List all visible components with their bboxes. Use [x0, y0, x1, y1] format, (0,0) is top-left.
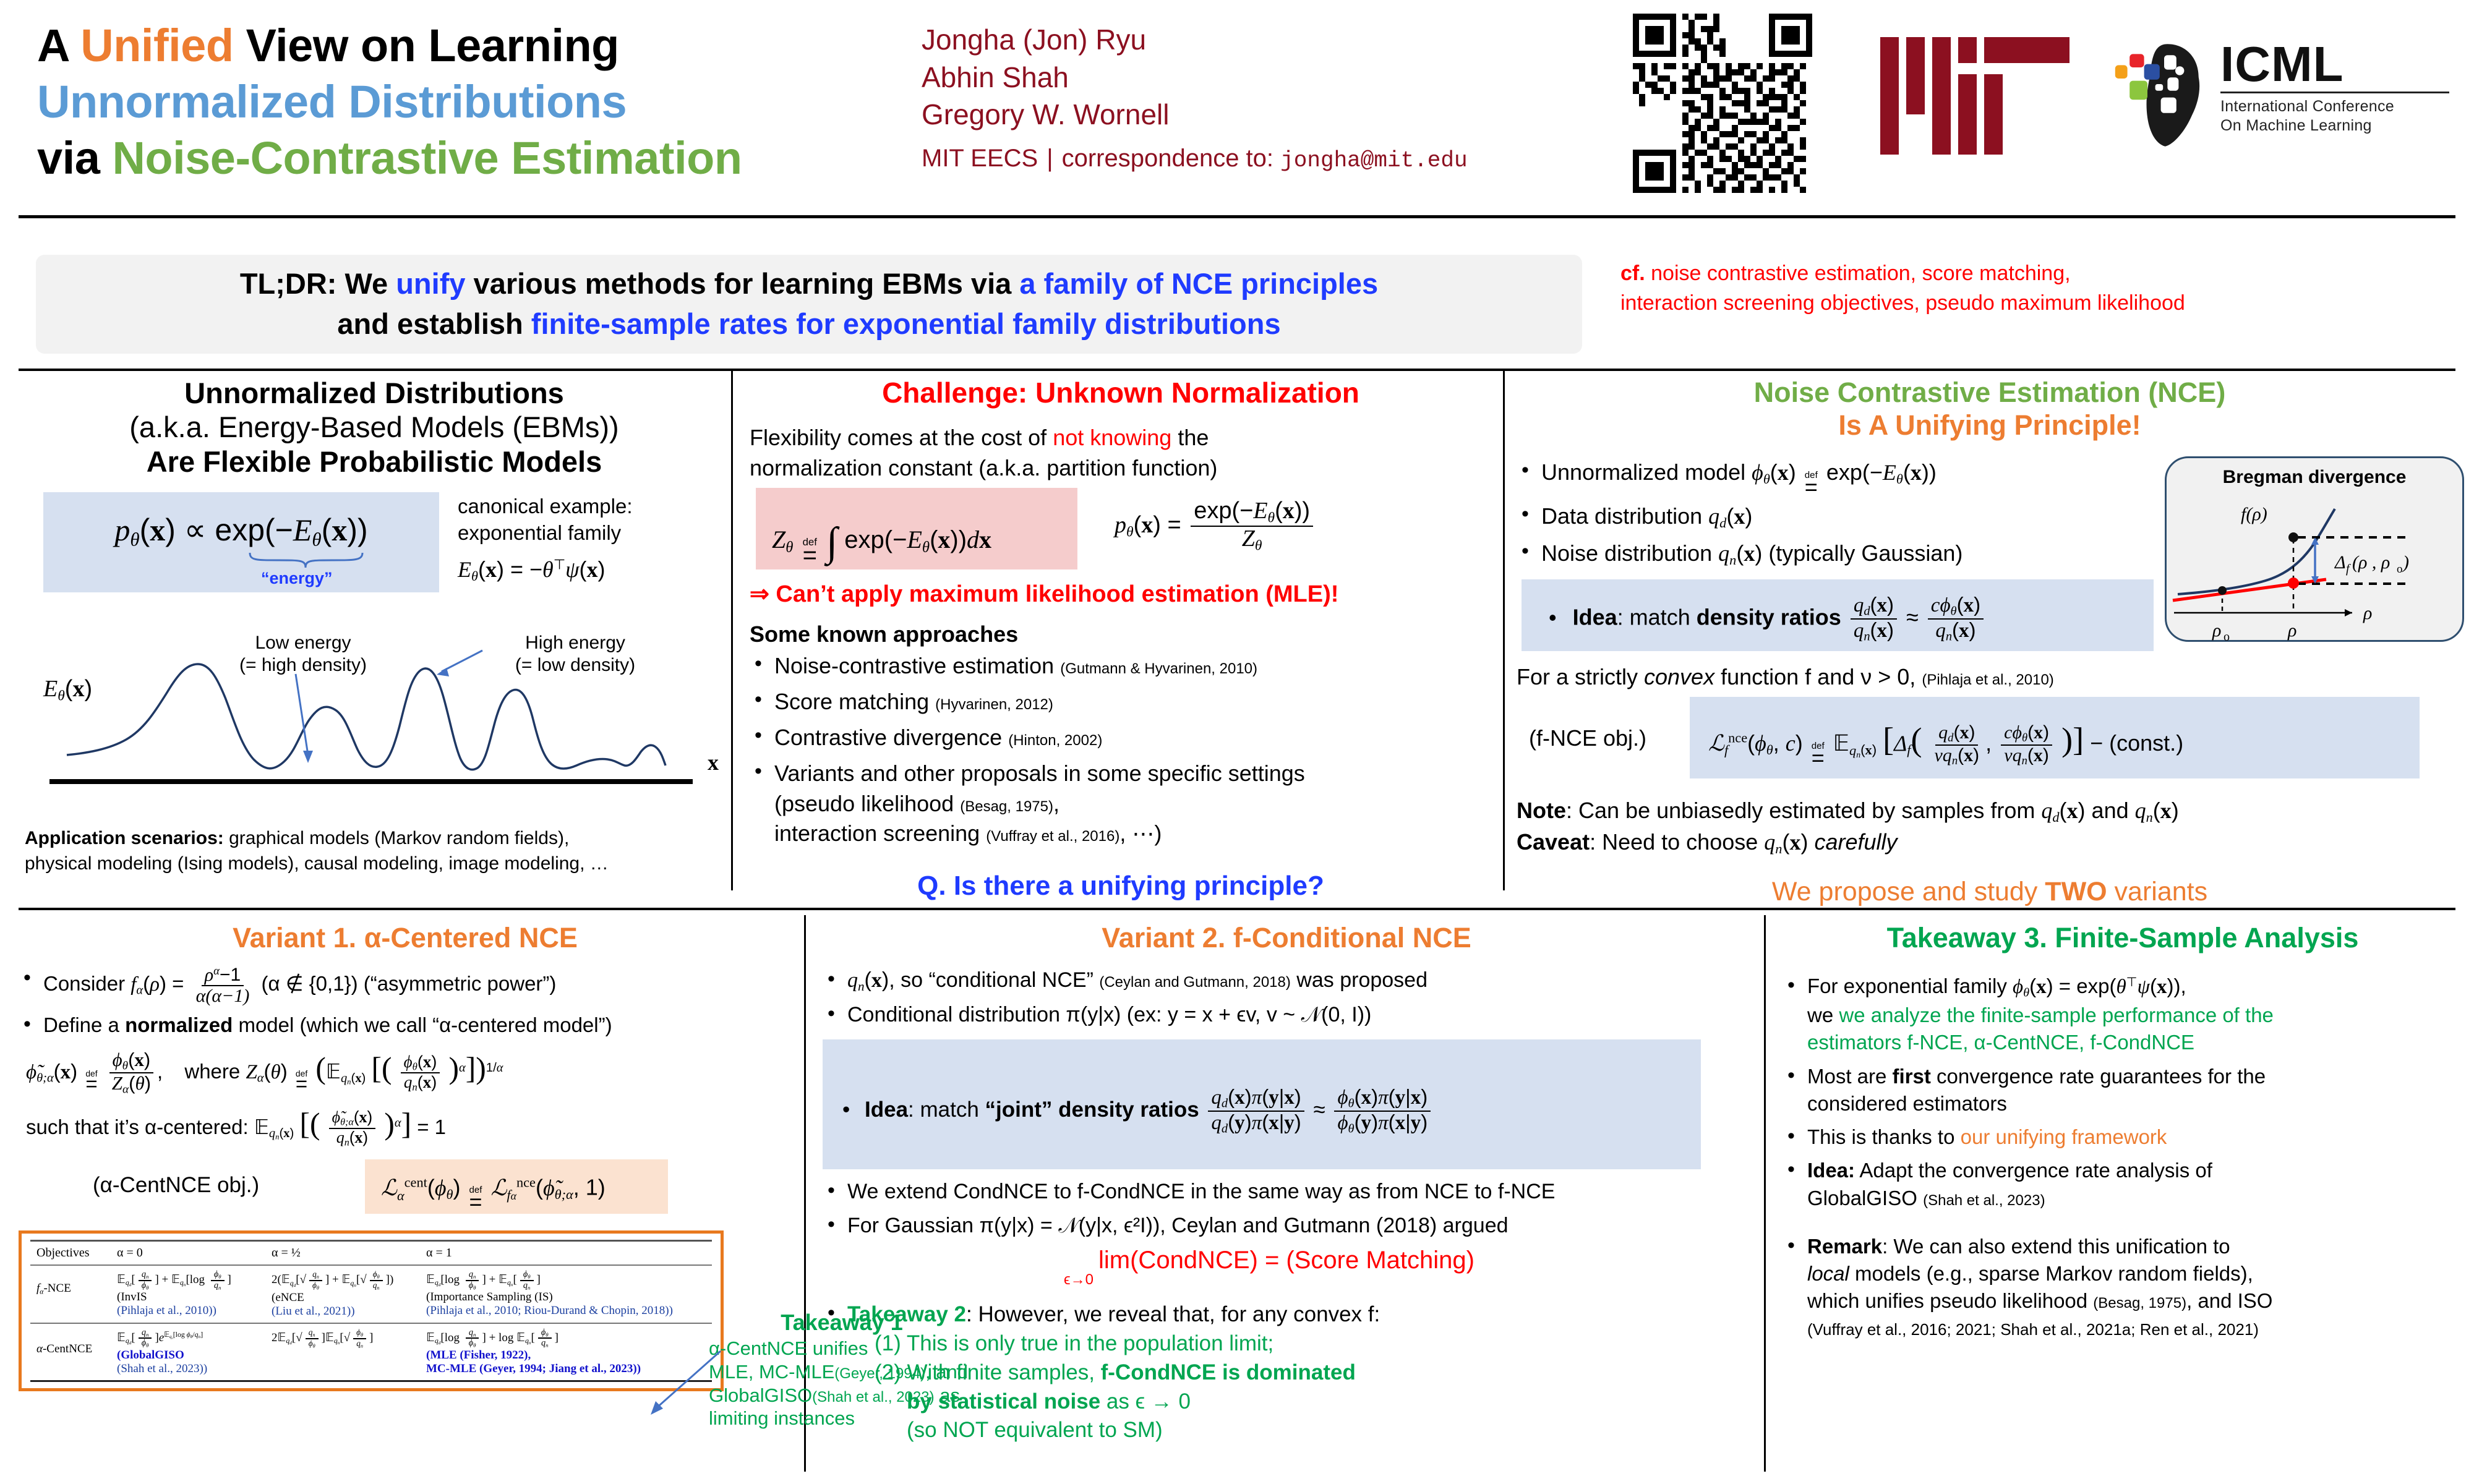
v1-centered-eq: = 1: [417, 1115, 446, 1138]
col3-heading-l2: Is A Unifying Principle!: [1838, 409, 2141, 441]
nce-bullet-noise: Noise distribution qn(x) (typically Gaus…: [1517, 539, 2154, 569]
approach-ref-2: (Hinton, 2002): [1008, 732, 1102, 749]
approach-text-2: Contrastive divergence: [774, 725, 1002, 750]
t3-first-c: convergence rate guarantees for the: [1931, 1065, 2266, 1088]
takeaway1-arrow-icon: [643, 1348, 724, 1428]
note-tail: and: [2092, 798, 2129, 823]
col3-heading-l1: Noise Contrastive Estimation (NCE): [1754, 377, 2226, 408]
row-label-centnce: α-CentNCE: [30, 1323, 111, 1381]
v2-heading-b: f-Conditional NCE: [1233, 922, 1471, 953]
th-alpha-0: α = 0: [111, 1241, 265, 1266]
v1-such-that: such that it’s α-centered:: [26, 1115, 249, 1138]
v1-where-label: where: [184, 1060, 240, 1083]
icml-brain-icon: [2103, 40, 2214, 151]
title-seg-unified: Unified: [80, 20, 233, 71]
svg-text:f(ρ): f(ρ): [2241, 504, 2267, 524]
v1-objective-box: ℒαcent(ϕθ) def= ℒfαnce(ϕ̃θ;α, 1): [365, 1159, 668, 1214]
variant1-heading: Variant 1. α-Centered NCE: [19, 921, 792, 954]
t2-point-2a: (2) With finite samples,: [875, 1360, 1101, 1384]
results-table-wrapper: Objectives α = 0 α = ½ α = 1 fα-NCE 𝔼qd: [19, 1230, 724, 1391]
header-divider: [19, 215, 2455, 218]
mid-divider: [19, 908, 2455, 910]
partition-function-box: Zθ def= ∫ exp(−Eθ(x))dx: [756, 488, 1077, 569]
col1-equation-row: pθ(x) ∝ exp(−Eθ(x)) “energy” canonical e…: [25, 492, 724, 616]
two-variants-line: We propose and study TWO variants: [1517, 877, 2463, 907]
approach-ref-0: (Gutmann & Hyvarinen, 2010): [1060, 660, 1257, 677]
results-table-head: Objectives α = 0 α = ½ α = 1: [30, 1241, 712, 1266]
canonical-example: canonical example: exponential family Eθ…: [458, 493, 717, 585]
t3-green-l1: we analyze the finite-sample performance…: [1839, 1004, 2274, 1026]
cell-ref: (Liu et al., 2021)): [272, 1305, 414, 1318]
caveat-rest: : Need to choose: [1590, 829, 1758, 855]
note-label: Note: [1517, 798, 1566, 823]
v1-heading-b: α-Centered NCE: [364, 922, 578, 953]
variants-sub-2: interaction screening: [774, 821, 980, 846]
svg-text:(ρ , ρ: (ρ , ρ: [2352, 552, 2390, 573]
t3-bullet-idea: Idea: Adapt the convergence rate analysi…: [1783, 1157, 2463, 1211]
t3-bullet-first: Most are first convergence rate guarante…: [1783, 1063, 2463, 1117]
density-ratio-eq: • Idea: match density ratios qd(x) qn(x)…: [1531, 584, 2144, 644]
icml-logo: ICML International Conference On Machine…: [2103, 31, 2449, 161]
nce-data-text: Data distribution: [1541, 503, 1702, 529]
propose-tail: variants: [2107, 877, 2208, 906]
t3-expfam-pre: For exponential family: [1807, 974, 2007, 997]
v2-bullet-extend: We extend CondNCE to f-CondNCE in the sa…: [823, 1178, 1750, 1206]
nce-noise-prefix: Noise distribution: [1541, 540, 1712, 566]
propose-pre: We propose and study: [1772, 877, 2045, 906]
t3-thanks-a: This is thanks to: [1807, 1125, 1961, 1148]
table-row: α-CentNCE 𝔼qd[qnϕθ]e𝔼qn[log ϕθ/qn] (Glob…: [30, 1323, 712, 1381]
v2-heading-a: Variant 2.: [1102, 922, 1233, 953]
col1-heading: Unnormalized Distributions (a.k.a. Energ…: [25, 376, 724, 479]
t2-point-1: (1) This is only true in the population …: [847, 1329, 1273, 1358]
fnce-objective-row: (f-NCE obj.) ℒfnce(ϕθ, c) def= 𝔼qn(x) [Δ…: [1517, 697, 2463, 790]
variant1-bullets: Consider fα(ρ) = ρα−1 α(α−1) (α ∉ {0,1})…: [19, 965, 792, 1039]
tldr-seg-5: and establish: [337, 307, 531, 340]
cell-name: (GlobalGISO: [117, 1349, 259, 1362]
mle-warning: ⇒ Can’t apply maximum likelihood estimat…: [750, 580, 1492, 608]
cf-note: cf. noise contrastive estimation, score …: [1620, 258, 2462, 318]
cell-formula: 2𝔼qd[√qnϕθ]𝔼qn[√ϕθqn]: [272, 1328, 414, 1349]
v2-limit-eq: lim(CondNCE) = (Score Matching): [1098, 1247, 1475, 1274]
col2-p1c: the: [1171, 425, 1209, 450]
t3-idea-b: GlobalGISO: [1807, 1187, 1917, 1209]
takeaway-2-panel: Takeaway 2: However, we reveal that, for…: [823, 1300, 1750, 1445]
variants-line: Variants and other proposals in some spe…: [774, 761, 1305, 786]
t3-remark-b: models (e.g., sparse Markov random field…: [1849, 1262, 2253, 1285]
partition-function-eq: Zθ def= ∫ exp(−Eθ(x))dx: [767, 494, 1066, 566]
title-seg-nce: Noise-Contrastive Estimation: [112, 132, 742, 184]
author-block: Jongha (Jon) Ryu Abhin Shah Gregory W. W…: [922, 21, 1468, 173]
svg-text:ρ: ρ: [2287, 620, 2296, 641]
title-seg-c: View on Learning: [234, 20, 619, 71]
mit-logo: [1880, 37, 2084, 155]
v2-bullet-conditional: Conditional distribution π(y|x) (ex: y =…: [823, 1001, 1750, 1030]
application-scenarios: Application scenarios: graphical models …: [25, 826, 724, 877]
column-unnormalized-distributions: Unnormalized Distributions (a.k.a. Energ…: [25, 376, 724, 877]
t3-green-l2: estimators f-NCE, α-CentNCE, f-CondNCE: [1807, 1031, 2194, 1054]
t2-point-4: (so NOT equivalent to SM): [847, 1416, 1163, 1445]
caveat-label: Caveat: [1517, 829, 1590, 855]
cell-ref: (Pihlaja et al., 2010)): [117, 1304, 259, 1318]
tldr-seg-1: TL;DR: We: [240, 267, 396, 300]
nce-definitions-list: Unnormalized model ϕθ(x) def= exp(−Eθ(x)…: [1517, 458, 2154, 569]
apps-line-2: physical modeling (Ising models), causal…: [25, 853, 609, 874]
cell-name: (Importance Sampling (IS): [426, 1290, 706, 1304]
poster-header: A Unified View on Learning Unnormalized …: [0, 0, 2474, 218]
cf-line-1: noise contrastive estimation, score matc…: [1645, 262, 2071, 285]
col1-heading-l1: Unnormalized Distributions: [184, 377, 564, 409]
note-line: Note: Can be unbiasedly estimated by sam…: [1517, 796, 2463, 827]
author-3: Gregory W. Wornell: [922, 96, 1468, 134]
v2-b1-pre: , so “conditional NCE”: [889, 968, 1094, 992]
row-label-fnce: fα-NCE: [30, 1265, 111, 1323]
th-alpha-1: α = 1: [420, 1241, 712, 1266]
title-seg-via: via: [37, 132, 112, 184]
results-table-body: fα-NCE 𝔼qd[qnϕθ] + 𝔼qn[log ϕθqn] (InvIS …: [30, 1265, 712, 1381]
th-objectives: Objectives: [30, 1241, 111, 1266]
fnce-equation: ℒfnce(ϕθ, c) def= 𝔼qn(x) [Δf( qd(x) νqn(…: [1700, 702, 2410, 767]
takeaway2-item: Takeaway 2: However, we reveal that, for…: [823, 1300, 1750, 1445]
cell-ref: (Shah et al., 2023)): [117, 1362, 259, 1376]
results-table: Objectives α = 0 α = ½ α = 1 fα-NCE 𝔼qd: [30, 1240, 712, 1382]
nce-bullet-data: Data distribution qd(x): [1517, 501, 2154, 532]
t2-point-3: by statistical noise as ϵ → 0: [847, 1388, 1191, 1417]
v1-normalized-model-eq: ϕ̃θ;α(x) def= ϕθ(x) Zα(θ) , where Zα(θ) …: [19, 1050, 792, 1096]
column-challenge: Challenge: Unknown Normalization Flexibi…: [750, 376, 1492, 902]
svg-text:f: f: [2346, 562, 2351, 576]
apps-line-1: graphical models (Markov random fields),: [224, 828, 570, 848]
ebm-equation: pθ(x) ∝ exp(−Eθ(x)): [53, 497, 429, 551]
col1-heading-l2: (a.k.a. Energy-Based Models (EBMs)): [129, 411, 618, 443]
cf-label: cf.: [1620, 262, 1645, 285]
density-ratio-box: • Idea: match density ratios qd(x) qn(x)…: [1522, 579, 2154, 651]
column-divider-1: [731, 371, 733, 890]
approaches-title: Some known approaches: [750, 621, 1492, 647]
fnce-const: − (const.): [2090, 730, 2183, 756]
tldr-seg-family: a family of NCE principles: [1019, 267, 1378, 300]
convex-pre: For a strictly: [1517, 664, 1644, 689]
note-rest: : Can be unbiasedly estimated by samples…: [1566, 798, 2035, 823]
column-divider-4: [1764, 915, 1766, 1472]
convex-italic: convex: [1644, 664, 1714, 689]
title-line-3: via Noise-Contrastive Estimation: [37, 130, 891, 186]
approach-ref-1: (Hyvarinen, 2012): [935, 696, 1053, 713]
th-alpha-half: α = ½: [265, 1241, 420, 1266]
nce-bullet-model: Unnormalized model ϕθ(x) def= exp(−Eθ(x)…: [1517, 458, 2154, 495]
cell-fnce-ahalf: 2(𝔼qd[√qnϕθ] + 𝔼qn[√ϕθqn]) (eNCE (Liu et…: [265, 1265, 420, 1323]
poster-root: A Unified View on Learning Unnormalized …: [0, 0, 2474, 1484]
energy-curve: [49, 628, 711, 814]
v1-consider-pre: Consider: [43, 972, 125, 995]
v1-heading-a: Variant 1.: [233, 922, 364, 953]
takeaway3-bullets: For exponential family ϕθ(x) = exp(θ⊤ψ(x…: [1783, 973, 2463, 1342]
bregman-title: Bregman divergence: [2167, 467, 2462, 488]
variants-tail: , ⋯): [1119, 821, 1162, 846]
approach-item-1: Score matching (Hyvarinen, 2012): [750, 687, 1492, 717]
convex-ref: (Pihlaja et al., 2010): [1922, 672, 2053, 688]
v1-objective-eq: ℒαcent(ϕθ) def= ℒfαnce(ϕ̃θ;α, 1): [376, 1166, 657, 1210]
unifying-question: Q. Is there a unifying principle?: [750, 871, 1492, 902]
v1-bullet-consider: Consider fα(ρ) = ρα−1 α(α−1) (α ∉ {0,1})…: [19, 965, 792, 1005]
t3-bullet-expfam: For exponential family ϕθ(x) = exp(θ⊤ψ(x…: [1783, 973, 2463, 1057]
icml-title: ICML: [2220, 41, 2449, 88]
v2-limit-sub: ϵ→0: [1064, 1271, 1094, 1289]
expfam-equation: Eθ(x) = −θ⊤ψ(x): [458, 555, 717, 585]
col2-heading: Challenge: Unknown Normalization: [750, 376, 1492, 409]
tldr-seg-3: various methods for learning EBMs via: [466, 267, 1020, 300]
nce-model-prefix: Unnormalized model: [1541, 459, 1745, 485]
title-line-1: A Unified View on Learning: [37, 17, 891, 74]
col2-paragraph: Flexibility comes at the cost of not kno…: [750, 423, 1492, 482]
variant2-bullets-2: We extend CondNCE to f-CondNCE in the sa…: [823, 1178, 1750, 1240]
v2-b1-post: was proposed: [1291, 968, 1427, 992]
v2-joint-ratio-eq: • Idea: match “joint” density ratios qd(…: [833, 1044, 1691, 1136]
variant2-bullets: qn(x), so “conditional NCE” (Ceylan and …: [823, 966, 1750, 1030]
fnce-equation-box: ℒfnce(ϕθ, c) def= 𝔼qn(x) [Δf( qd(x) νqn(…: [1690, 697, 2420, 778]
t3-first-d: considered estimators: [1807, 1092, 2007, 1115]
t1-line-2: MLE, MC-MLE: [709, 1361, 834, 1383]
cf-line-2: interaction screening objectives, pseudo…: [1620, 291, 2185, 315]
col2-p1b: not knowing: [1053, 425, 1171, 450]
fnce-label: (f-NCE obj.): [1529, 725, 1646, 751]
t3-remark-ref1: (Besag, 1975): [2093, 1295, 2186, 1311]
t3-remark-label: Remark: [1807, 1235, 1882, 1258]
col1-heading-l3: Are Flexible Probabilistic Models: [147, 445, 602, 478]
cell-formula: 2(𝔼qd[√qnϕθ] + 𝔼qn[√ϕθqn]): [272, 1270, 414, 1291]
variants-sub-1: (pseudo likelihood: [774, 791, 954, 816]
qr-code-icon[interactable]: [1633, 14, 1812, 193]
cell-name: (eNCE: [272, 1291, 414, 1305]
table-row: fα-NCE 𝔼qd[qnϕθ] + 𝔼qn[log ϕθqn] (InvIS …: [30, 1265, 712, 1323]
v1-define-c: model (which we call “α-centered model”): [233, 1013, 612, 1036]
caveat-line: Caveat: Need to choose qn(x) carefully: [1517, 827, 2463, 858]
t3-remark-d: , and ISO: [2186, 1289, 2272, 1312]
v1-consider-post: (α ∉ {0,1}) (“asymmetric power”): [262, 972, 557, 995]
approach-item-0: Noise-contrastive estimation (Gutmann & …: [750, 651, 1492, 681]
t2-point-3b: as ϵ → 0: [1100, 1389, 1191, 1414]
convex-line: For a strictly convex function f and ν >…: [1517, 662, 2463, 692]
icml-wordmark: ICML International Conference On Machine…: [2220, 41, 2449, 135]
cell-formula: 𝔼qd[log qnϕθ] + 𝔼qn[ϕθqn]: [426, 1270, 706, 1290]
idea-rest: : match: [1617, 605, 1697, 630]
cell-cent-a0: 𝔼qd[qnϕθ]e𝔼qn[log ϕθ/qn] (GlobalGISO (Sh…: [111, 1323, 265, 1381]
nce-noise-suffix: (typically Gaussian): [1768, 540, 1963, 566]
tldr-banner: TL;DR: We unify various methods for lear…: [36, 255, 1582, 354]
approach-text-0: Noise-contrastive estimation: [774, 653, 1054, 678]
energy-caption: “energy”: [261, 569, 333, 588]
t2-point-3a: by statistical noise: [907, 1389, 1100, 1414]
normalized-density-eq: pθ(x) = exp(−Eθ(x)) Zθ: [1115, 499, 1316, 553]
svg-text:): ): [2402, 552, 2409, 573]
t3-thanks-b: our unifying framework: [1961, 1125, 2167, 1148]
cell-cent-ahalf: 2𝔼qd[√qnϕθ]𝔼qn[√ϕθqn]: [265, 1323, 420, 1381]
title-seg-a: A: [37, 20, 80, 71]
apps-label: Application scenarios:: [25, 828, 224, 848]
v2-idea-label: Idea: [865, 1098, 908, 1122]
col2-p1a: Flexibility comes at the cost of: [750, 425, 1053, 450]
canonical-line-2: exponential family: [458, 520, 717, 547]
icml-subtitle-2: On Machine Learning: [2220, 116, 2449, 135]
caveat-tail: carefully: [1814, 829, 1897, 855]
t3-first-a: Most are: [1807, 1065, 1893, 1088]
bregman-diagram: f(ρ) Δ f (ρ , ρ o ) ρ ρ o ρ: [2167, 488, 2466, 642]
t3-idea-ref: (Shah et al., 2023): [1923, 1192, 2045, 1209]
cell-ref: (Pihlaja et al., 2010; Riou-Durand & Cho…: [426, 1304, 706, 1318]
cell-fnce-a0: 𝔼qd[qnϕθ] + 𝔼qn[log ϕθqn] (InvIS (Pihlaj…: [111, 1265, 265, 1323]
column-variant-2: Variant 2. f-Conditional NCE qn(x), so “…: [823, 921, 1750, 1451]
variant2-heading: Variant 2. f-Conditional NCE: [823, 921, 1750, 954]
column-takeaway-3: Takeaway 3. Finite-Sample Analysis For e…: [1783, 921, 2463, 1349]
t3-bullet-remark: Remark: We can also extend this unificat…: [1783, 1233, 2463, 1342]
icml-divider: [2220, 92, 2449, 93]
v2-b1-ref: (Ceylan and Gutmann, 2018): [1099, 974, 1291, 991]
t2-label: Takeaway 2: [847, 1302, 966, 1326]
affiliation-separator: |: [1038, 145, 1061, 172]
variants-ref-1: (Besag, 1975): [960, 798, 1053, 815]
t2-point-2: (2) With finite samples, f-CondNCE is do…: [847, 1358, 1356, 1388]
t3-we: we: [1807, 1004, 1839, 1026]
energy-landscape-plot: Eθ(x) Low energy (= high density) High e…: [25, 616, 724, 820]
t2-rest: : However, we reveal that, for any conve…: [966, 1302, 1380, 1326]
idea-label: Idea: [1573, 605, 1617, 630]
affiliation-line: MIT EECS|correspondence to: jongha@mit.e…: [922, 145, 1468, 173]
author-1: Jongha (Jon) Ryu: [922, 21, 1468, 59]
v2-limit-equation: lim(CondNCE) = (Score Matching) ϵ→0: [823, 1247, 1750, 1274]
v1-define-b: normalized: [125, 1013, 233, 1036]
correspondence-label: correspondence to:: [1062, 145, 1273, 172]
approach-item-2: Contrastive divergence (Hinton, 2002): [750, 723, 1492, 753]
v2-idea-label2: “joint” density ratios: [985, 1098, 1199, 1122]
v2-idea-mid: : match: [908, 1098, 985, 1122]
t3-remark-ref2: (Vuffray et al., 2016; 2021; Shah et al.…: [1807, 1320, 2259, 1339]
tldr-divider: [19, 369, 2455, 371]
t3-idea-label: Idea:: [1807, 1159, 1855, 1182]
v1-centered-condition: such that it’s α-centered: 𝔼qn(x) [( ϕ̃θ…: [19, 1106, 792, 1149]
t1-line-3: GlobalGISO: [709, 1384, 812, 1406]
t3-bullet-thanks: This is thanks to our unifying framework: [1783, 1124, 2463, 1151]
approaches-list: Noise-contrastive estimation (Gutmann & …: [750, 651, 1492, 848]
icml-subtitle-1: International Conference: [2220, 97, 2449, 116]
partition-equations: Zθ def= ∫ exp(−Eθ(x))dx pθ(x) = exp(−Eθ(…: [750, 488, 1492, 578]
ebm-equation-box: pθ(x) ∝ exp(−Eθ(x)) “energy”: [43, 492, 439, 592]
tldr-seg-unify: unify: [396, 267, 465, 300]
variants-ref-2: (Vuffray et al., 2016): [986, 828, 1119, 845]
takeaway3-heading: Takeaway 3. Finite-Sample Analysis: [1783, 921, 2463, 954]
svg-text:o: o: [2397, 563, 2403, 576]
bregman-divergence-panel: Bregman divergence f(ρ) Δ f (ρ , ρ: [2165, 456, 2464, 642]
v1-objective-row: (α-CentNCE obj.) ℒαcent(ϕθ) def= ℒfαnce(…: [19, 1156, 792, 1224]
tldr-text: TL;DR: We unify various methods for lear…: [240, 264, 1378, 344]
title-line-2: Unnormalized Distributions: [37, 74, 891, 130]
plot-x-label: x: [708, 749, 719, 775]
affiliation: MIT EECS: [922, 145, 1038, 172]
svg-text:o: o: [2224, 630, 2230, 642]
idea-label2: density ratios: [1697, 605, 1841, 630]
approach-item-variants: Variants and other proposals in some spe…: [750, 759, 1492, 848]
propose-two: TWO: [2045, 877, 2107, 906]
correspondence-email[interactable]: jongha@mit.edu: [1280, 148, 1467, 173]
column-nce: Noise Contrastive Estimation (NCE) Is A …: [1517, 376, 2463, 907]
tldr-seg-rates: finite-sample rates for exponential fami…: [531, 307, 1281, 340]
approach-text-1: Score matching: [774, 689, 929, 714]
t3-idea-a: Adapt the convergence rate analysis of: [1855, 1159, 2212, 1182]
svg-text:Δ: Δ: [2334, 552, 2346, 573]
author-2: Abhin Shah: [922, 59, 1468, 96]
t2-point-2b: f-CondNCE is dominated: [1101, 1360, 1356, 1384]
v1-bullet-define: Define a normalized model (which we call…: [19, 1012, 792, 1039]
cell-name: (InvIS: [117, 1290, 259, 1304]
t3-first-b: first: [1893, 1065, 1931, 1088]
svg-text:ρ: ρ: [2363, 603, 2372, 623]
col2-p2: normalization constant (a.k.a. partition…: [750, 455, 1217, 480]
v1-objective-label: (α-CentNCE obj.): [93, 1173, 259, 1198]
convex-post: function f and ν > 0,: [1714, 664, 1915, 689]
v2-bullet-condnce: qn(x), so “conditional NCE” (Ceylan and …: [823, 966, 1750, 995]
v2-joint-ratio-box: • Idea: match “joint” density ratios qd(…: [823, 1039, 1701, 1169]
canonical-line-1: canonical example:: [458, 493, 717, 520]
v1-define-a: Define a: [43, 1013, 125, 1036]
cell-formula: 𝔼qd[qnϕθ] + 𝔼qn[log ϕθqn]: [117, 1270, 259, 1290]
cell-formula: 𝔼qd[log qnϕθ] + log 𝔼qn[ϕθqn]: [426, 1328, 706, 1349]
svg-text:ρ: ρ: [2212, 620, 2221, 641]
v2-bullet-gaussian: For Gaussian π(y|x) = 𝒩(y|x, ϵ²I)), Ceyl…: [823, 1212, 1750, 1240]
column-divider-2: [1503, 371, 1505, 890]
t3-remark-a: : We can also extend this unification to: [1882, 1235, 2230, 1258]
t3-remark-c: which unifies pseudo likelihood: [1807, 1289, 2087, 1312]
t3-remark-italic: local: [1807, 1262, 1849, 1285]
results-header-row: Objectives α = 0 α = ½ α = 1: [30, 1241, 712, 1266]
col3-heading: Noise Contrastive Estimation (NCE) Is A …: [1517, 376, 2463, 441]
poster-title: A Unified View on Learning Unnormalized …: [37, 17, 891, 186]
cell-formula: 𝔼qd[qnϕθ]e𝔼qn[log ϕθ/qn]: [117, 1328, 259, 1349]
column-variant-1: Variant 1. α-Centered NCE Consider fα(ρ)…: [19, 921, 792, 1224]
cell-fnce-a1: 𝔼qd[log qnϕθ] + 𝔼qn[ϕθqn] (Importance Sa…: [420, 1265, 712, 1323]
